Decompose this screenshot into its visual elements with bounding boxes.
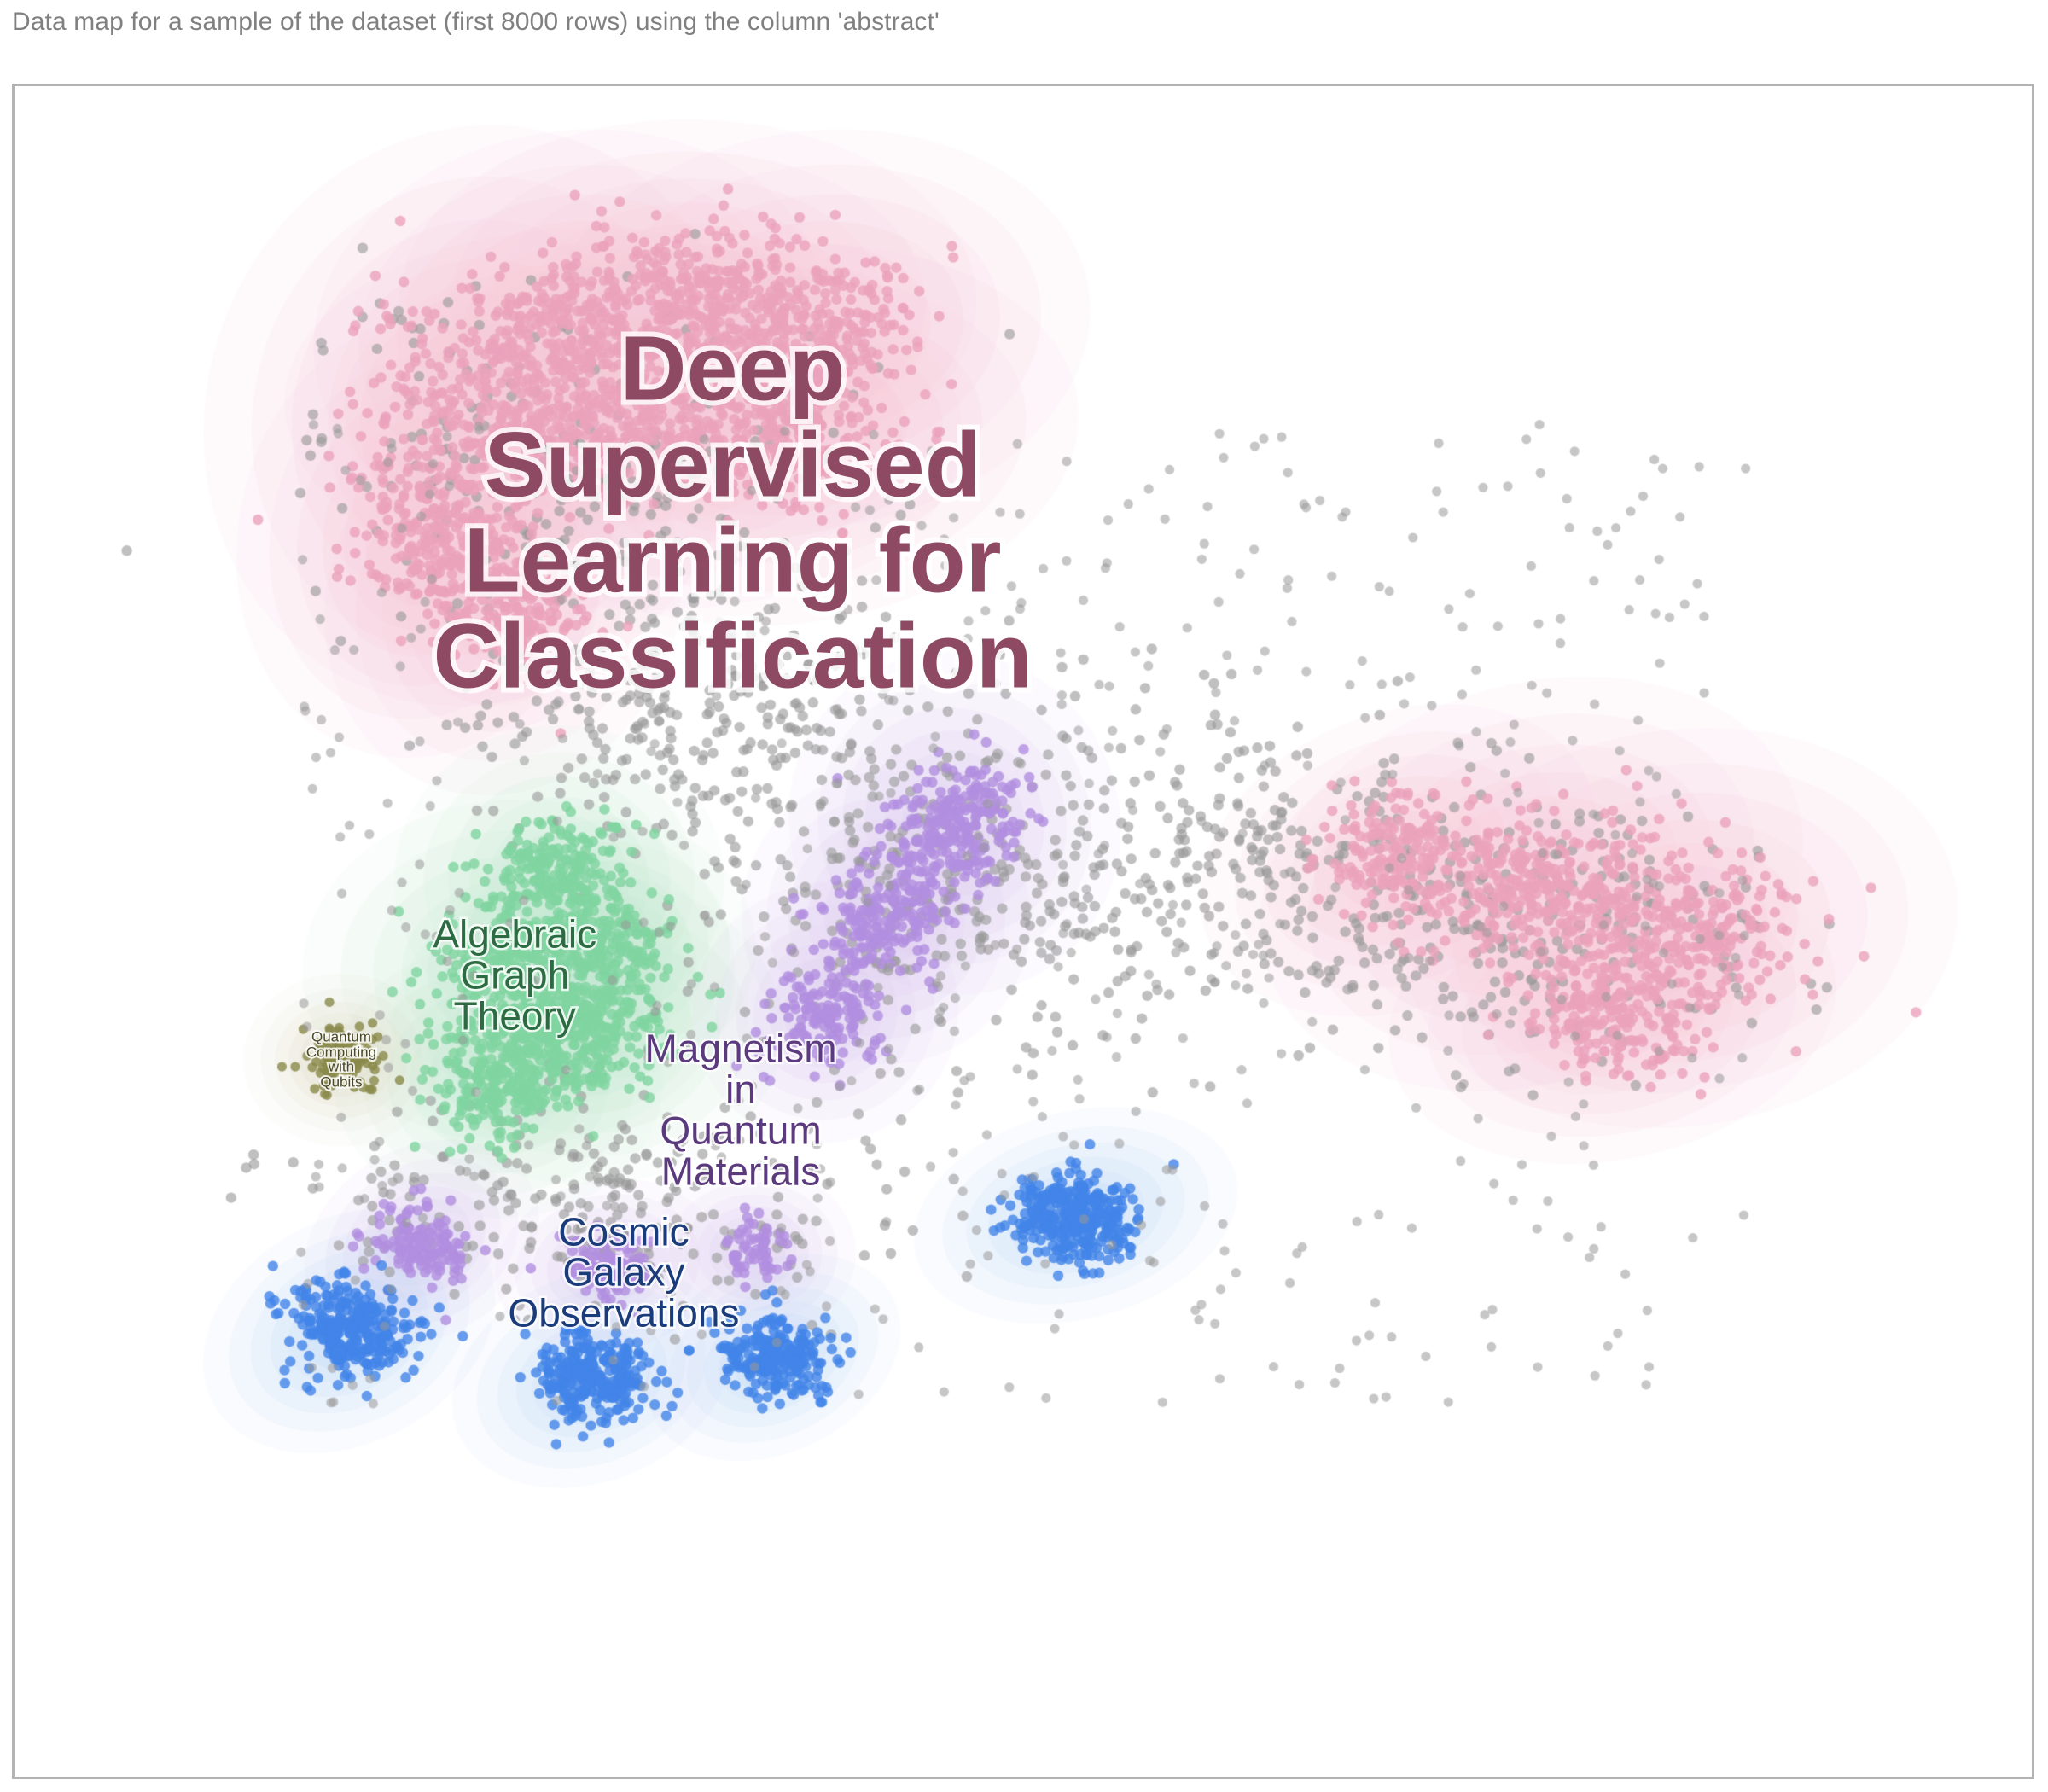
cluster-label-text: Magnetism in Quantum Materials — [645, 1029, 837, 1192]
figure-caption: Data map for a sample of the dataset (fi… — [12, 7, 940, 38]
cluster-label-text: Quantum Computing with Qubits — [306, 1030, 376, 1091]
cluster-label-text: Deep Supervised Learning for Classificat… — [433, 321, 1032, 704]
cluster-label-text: Cosmic Galaxy Observations — [508, 1212, 739, 1334]
plot-frame: Deep Supervised Learning for Classificat… — [12, 84, 2034, 1779]
cluster-label-text: Algebraic Graph Theory — [433, 914, 596, 1036]
data-map-figure: Data map for a sample of the dataset (fi… — [0, 0, 2048, 1792]
